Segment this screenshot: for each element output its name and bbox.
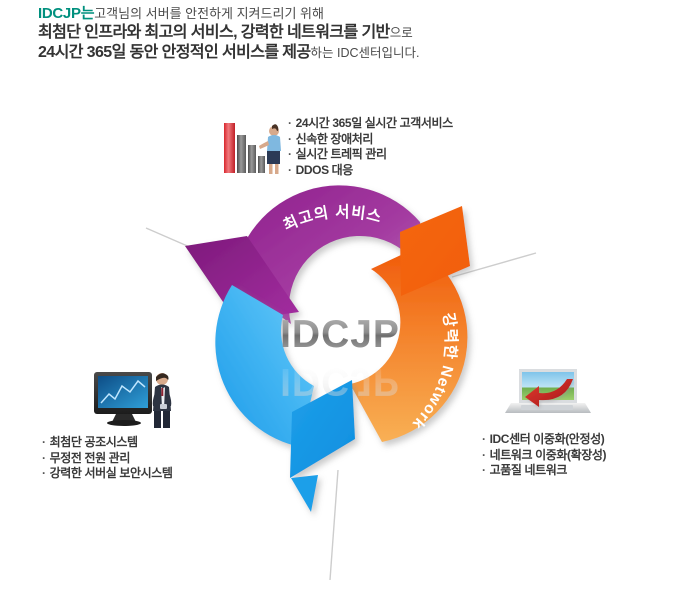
bullet-items-infra: 최첨단 공조시스템무정전 전원 관리강력한 서버실 보안시스템 <box>42 435 173 482</box>
bullet-list-network: IDC센터 이중화(안정성)네트워크 이중화(확장성)고품질 네트워크 <box>482 432 606 479</box>
arc-infra-arrow-tip <box>291 475 318 512</box>
list-item: 고품질 네트워크 <box>482 463 606 479</box>
bullet-items-network: IDC센터 이중화(안정성)네트워크 이중화(확장성)고품질 네트워크 <box>482 432 606 479</box>
list-item: 24시간 365일 실시간 고객서비스 <box>288 116 453 132</box>
bar-1 <box>224 123 235 173</box>
laptop-keyboard <box>521 405 573 410</box>
list-item: 최첨단 공조시스템 <box>42 435 173 451</box>
laptop-arrow-icon <box>505 363 591 425</box>
monitor-base <box>107 420 141 426</box>
bullet-list-infra: 최첨단 공조시스템무정전 전원 관리강력한 서버실 보안시스템 <box>42 435 173 482</box>
cycle-diagram: 최고의 서비스 강력한 Network 최첨단 INFRA IDCJP IDCJ… <box>0 0 680 600</box>
list-item: 무정전 전원 관리 <box>42 451 173 467</box>
center-logo-reflection: IDCJP <box>280 360 400 403</box>
list-item: 신속한 장애처리 <box>288 132 453 148</box>
monitor-screen <box>98 376 148 408</box>
infographic-canvas: IDCJP는고객님의 서버를 안전하게 지켜드리기 위해 최첨단 인프라와 최고… <box>0 0 680 600</box>
list-item: 실시간 트레픽 관리 <box>288 147 453 163</box>
bullet-list-service: 24시간 365일 실시간 고객서비스신속한 장애처리실시간 트레픽 관리DDO… <box>288 116 453 178</box>
list-item: 강력한 서버실 보안시스템 <box>42 466 173 482</box>
bullet-items-service: 24시간 365일 실시간 고객서비스신속한 장애처리실시간 트레픽 관리DDO… <box>288 116 453 178</box>
bar-chart-presenter-icon <box>222 115 284 177</box>
list-item: IDC센터 이중화(안정성) <box>482 432 606 448</box>
bar-3 <box>248 145 256 173</box>
center-logo-text: IDCJP <box>280 313 400 356</box>
list-item: 네트워크 이중화(확장성) <box>482 448 606 464</box>
businessman-figure <box>153 373 172 428</box>
list-item: DDOS 대응 <box>288 163 453 179</box>
bar-2 <box>237 135 246 173</box>
arc-service <box>185 185 429 324</box>
connector-line-bottom <box>330 470 338 580</box>
monitor-businessman-icon <box>92 368 192 430</box>
center-logo: IDCJP IDCJP <box>280 313 400 403</box>
bar-4 <box>258 156 265 173</box>
